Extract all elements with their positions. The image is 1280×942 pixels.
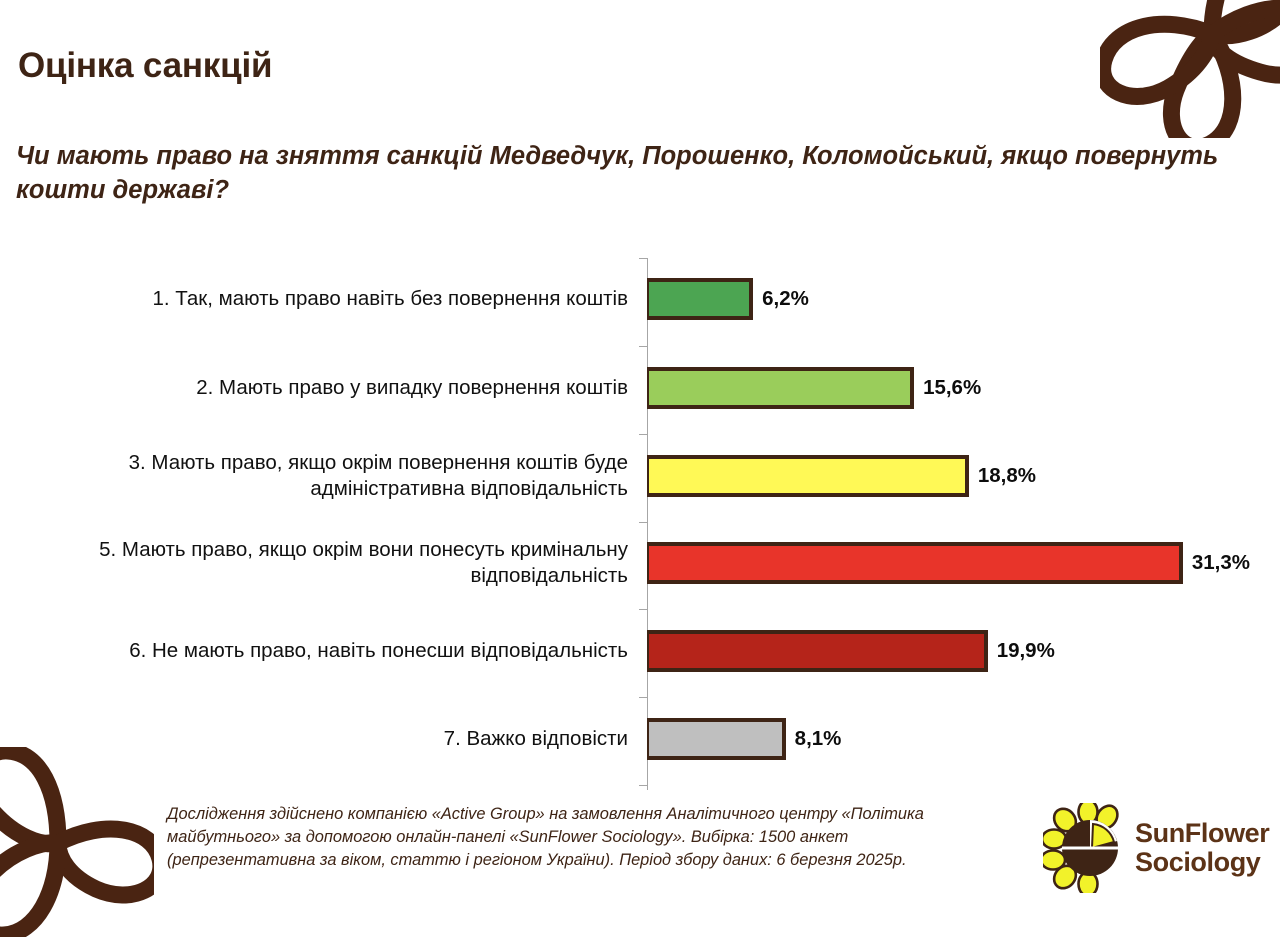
bar	[647, 718, 786, 760]
axis-tick	[639, 785, 647, 786]
survey-question: Чи мають право на зняття санкцій Медведч…	[16, 140, 1256, 207]
bar	[647, 278, 753, 320]
sunflower-sociology-logo: SunFlower Sociology	[1043, 800, 1280, 896]
bar-row: 15,6%	[647, 367, 981, 409]
category-label: 7. Важко відповісти	[0, 726, 628, 752]
bar-row: 6,2%	[647, 278, 809, 320]
bar-value-label: 15,6%	[923, 376, 981, 400]
bar-value-label: 8,1%	[795, 727, 842, 751]
bar-row: 19,9%	[647, 630, 1055, 672]
axis-tick	[639, 258, 647, 259]
category-axis-labels: 1. Так, мають право навіть без поверненн…	[0, 252, 628, 797]
logo-line-1: SunFlower	[1135, 819, 1269, 848]
logo-line-2: Sociology	[1135, 848, 1269, 877]
axis-tick	[639, 609, 647, 610]
axis-tick	[639, 346, 647, 347]
category-label: 5. Мають право, якщо окрім вони понесуть…	[0, 537, 628, 589]
bar-row: 31,3%	[647, 542, 1250, 584]
bar	[647, 630, 988, 672]
sunflower-icon	[1043, 803, 1129, 893]
category-label: 6. Не мають право, навіть понесши відпов…	[0, 638, 628, 664]
decorative-flower-top-right	[1100, 0, 1280, 143]
category-label: 1. Так, мають право навіть без поверненн…	[0, 286, 628, 312]
bar	[647, 367, 914, 409]
bar	[647, 542, 1183, 584]
bar-value-label: 31,3%	[1192, 551, 1250, 575]
bar-value-label: 6,2%	[762, 287, 809, 311]
axis-tick	[639, 697, 647, 698]
bar-value-label: 19,9%	[997, 639, 1055, 663]
logo-wordmark: SunFlower Sociology	[1135, 819, 1269, 876]
category-label: 3. Мають право, якщо окрім повернення ко…	[0, 450, 628, 502]
bar-series: 6,2%15,6%18,8%31,3%19,9%8,1%	[647, 252, 1280, 797]
axis-tick	[639, 434, 647, 435]
bar-chart: 1. Так, мають право навіть без поверненн…	[0, 252, 1280, 797]
category-label: 2. Мають право у випадку повернення кошт…	[0, 375, 628, 401]
bar-row: 8,1%	[647, 718, 841, 760]
axis-tick	[639, 522, 647, 523]
bar-row: 18,8%	[647, 455, 1036, 497]
methodology-note: Дослідження здійснено компанією «Active …	[167, 803, 957, 872]
bar-value-label: 18,8%	[978, 464, 1036, 488]
bar	[647, 455, 969, 497]
page-title: Оцінка санкцій	[18, 46, 272, 86]
